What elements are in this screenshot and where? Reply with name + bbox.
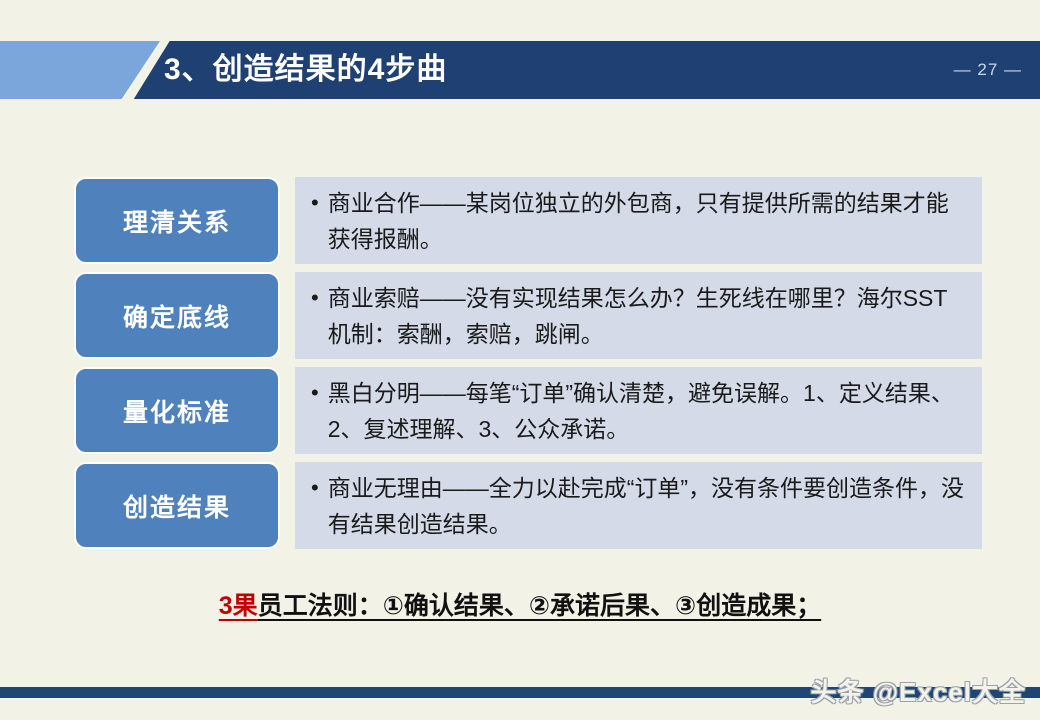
slide-canvas: 3、创造结果的4步曲 — 27 — 理清关系 • 商业合作——某岗位独立的外包商… <box>0 0 1040 720</box>
row-body-3: • 黑白分明——每笔“订单”确认清楚，避免误解。1、定义结果、2、复述理解、3、… <box>295 367 982 454</box>
footnote-highlight: 3果 <box>219 592 258 620</box>
content-row: 确定底线 • 商业索赔——没有实现结果怎么办？生死线在哪里？海尔SST机制：索酬… <box>74 272 982 359</box>
row-label-1: 理清关系 <box>74 177 280 264</box>
row-label-4: 创造结果 <box>74 462 280 549</box>
bullet-icon: • <box>311 470 319 506</box>
content-row: 量化标准 • 黑白分明——每笔“订单”确认清楚，避免误解。1、定义结果、2、复述… <box>74 367 982 454</box>
watermark: 头条 @Excel大全 <box>810 672 1026 709</box>
row-body-1: • 商业合作——某岗位独立的外包商，只有提供所需的结果才能获得报酬。 <box>295 177 982 264</box>
content-row: 创造结果 • 商业无理由——全力以赴完成“订单”，没有条件要创造条件，没有结果创… <box>74 462 982 549</box>
footnote: 3果员工法则：①确认结果、②承诺后果、③创造成果； <box>0 586 1040 624</box>
row-body-2: • 商业索赔——没有实现结果怎么办？生死线在哪里？海尔SST机制：索酬，索赔，跳… <box>295 272 982 359</box>
page-title: 3、创造结果的4步曲 <box>164 41 447 99</box>
row-label-3: 量化标准 <box>74 367 280 454</box>
bullet-icon: • <box>311 375 319 411</box>
row-text-4: 商业无理由——全力以赴完成“订单”，没有条件要创造条件，没有结果创造结果。 <box>328 470 968 542</box>
footnote-rest: 员工法则：①确认结果、②承诺后果、③创造成果； <box>258 592 822 620</box>
content-row: 理清关系 • 商业合作——某岗位独立的外包商，只有提供所需的结果才能获得报酬。 <box>74 177 982 264</box>
header-light-band <box>0 41 160 99</box>
bullet-icon: • <box>311 280 319 316</box>
page-number: — 27 — <box>954 41 1022 99</box>
bullet-icon: • <box>311 185 319 221</box>
row-text-2: 商业索赔——没有实现结果怎么办？生死线在哪里？海尔SST机制：索酬，索赔，跳闸。 <box>328 280 968 352</box>
row-text-1: 商业合作——某岗位独立的外包商，只有提供所需的结果才能获得报酬。 <box>328 185 968 257</box>
slide-header: 3、创造结果的4步曲 — 27 — <box>0 41 1040 99</box>
row-body-4: • 商业无理由——全力以赴完成“订单”，没有条件要创造条件，没有结果创造结果。 <box>295 462 982 549</box>
row-text-3: 黑白分明——每笔“订单”确认清楚，避免误解。1、定义结果、2、复述理解、3、公众… <box>328 375 968 447</box>
content-rows: 理清关系 • 商业合作——某岗位独立的外包商，只有提供所需的结果才能获得报酬。 … <box>74 177 982 557</box>
row-label-2: 确定底线 <box>74 272 280 359</box>
